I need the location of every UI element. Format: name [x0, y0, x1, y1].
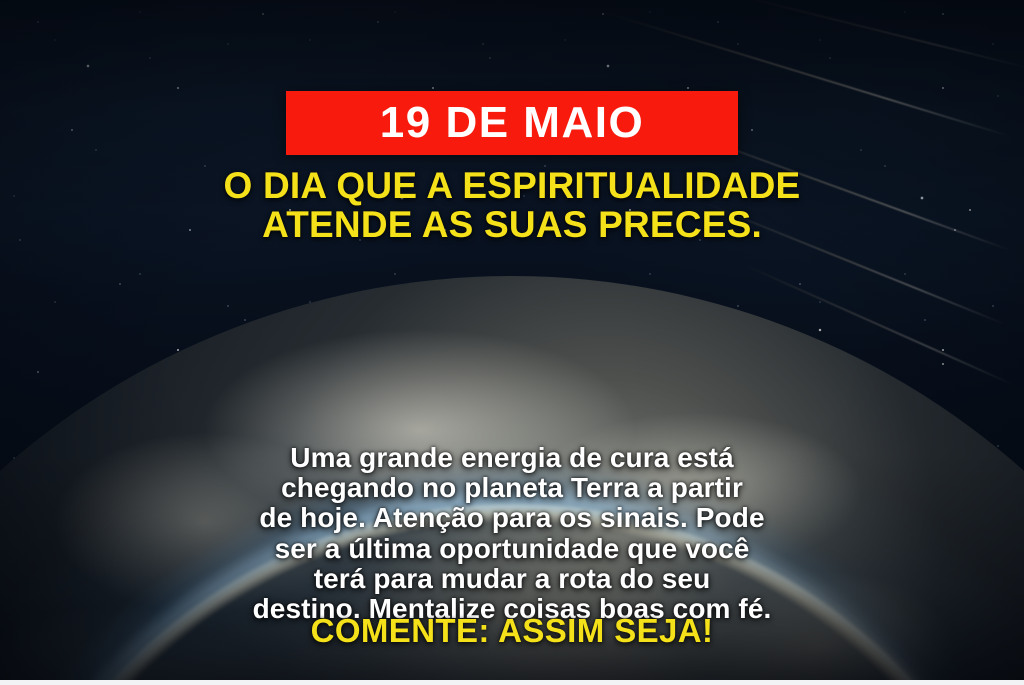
bottom-strip — [0, 680, 1024, 685]
poster-image: 19 DE MAIO O DIA QUE A ESPIRITUALIDADE A… — [0, 0, 1024, 685]
body-line-3: de hoje. Atenção para os sinais. Pode — [62, 503, 962, 533]
headline-line-2: ATENDE AS SUAS PRECES. — [0, 205, 1024, 244]
date-banner: 19 DE MAIO — [286, 91, 738, 155]
date-banner-label: 19 DE MAIO — [380, 101, 644, 145]
call-to-action-text: COMENTE: ASSIM SEJA! — [0, 614, 1024, 647]
body-line-1: Uma grande energia de cura está — [62, 443, 962, 473]
body-line-4: ser a última oportunidade que você — [62, 534, 962, 564]
poster-content: 19 DE MAIO O DIA QUE A ESPIRITUALIDADE A… — [0, 0, 1024, 685]
headline: O DIA QUE A ESPIRITUALIDADE ATENDE AS SU… — [0, 166, 1024, 244]
body-line-5: terá para mudar a rota do seu — [62, 564, 962, 594]
headline-line-1: O DIA QUE A ESPIRITUALIDADE — [0, 166, 1024, 205]
body-line-2: chegando no planeta Terra a partir — [62, 473, 962, 503]
body-paragraph: Uma grande energia de cura está chegando… — [62, 443, 962, 624]
